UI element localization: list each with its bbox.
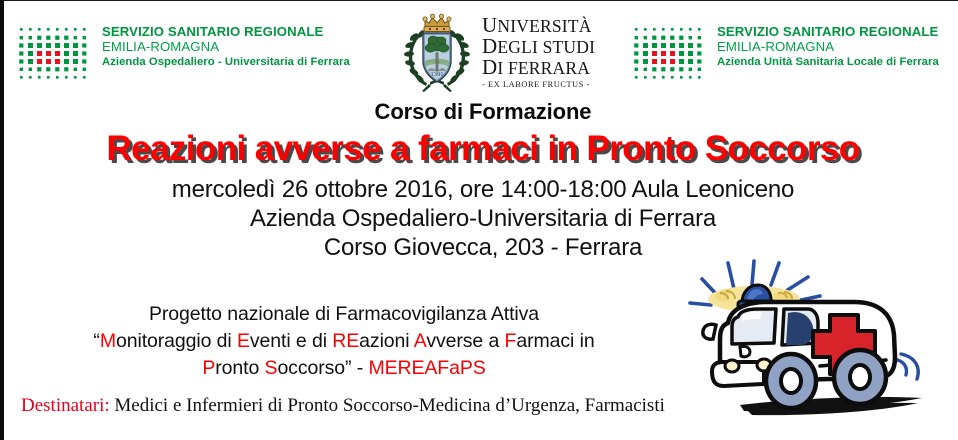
university-line2: Degli Studi: [482, 36, 595, 57]
front-wheel: [766, 354, 816, 408]
acronym-letter: M: [100, 330, 116, 352]
course-kicker: Corso di Formazione: [4, 99, 958, 125]
university-line3: di Ferrara: [482, 57, 595, 78]
university-motto: - EX LABORE FRUCTUS -: [482, 81, 595, 89]
rear-wheel: [834, 350, 886, 404]
venue-block: mercoledì 26 ottobre 2016, ore 14:00-18:…: [4, 175, 958, 262]
motion-lines-icon: [894, 354, 918, 379]
project-text-run: vverse a: [426, 330, 504, 352]
project-text-run: occorso” -: [277, 357, 368, 379]
project-text-run: ronto: [215, 357, 264, 379]
project-line2: “Monitoraggio di Eventi e di REazioni Av…: [4, 328, 684, 355]
acronym-letter: E: [237, 330, 250, 352]
logo-left-text: SERVIZIO SANITARIO REGIONALE EMILIA-ROMA…: [102, 25, 350, 68]
university-line1: Università: [482, 15, 595, 36]
project-block: Progetto nazionale di Farmacovigilanza A…: [4, 301, 684, 382]
acronym-letter: MEREAFaPS: [368, 357, 485, 379]
project-text-run: armaci in: [516, 330, 594, 352]
poster-canvas: SERVIZIO SANITARIO REGIONALE EMILIA-ROMA…: [0, 0, 958, 440]
logo-servizio-sanitario-ausl: SERVIZIO SANITARIO REGIONALE EMILIA-ROMA…: [633, 25, 939, 86]
ssr-dot-matrix-logo-icon: [18, 26, 90, 86]
project-text-run: onitoraggio di: [116, 330, 237, 352]
destinatari-line: Destinatari: Medici e Infermieri di Pron…: [21, 395, 665, 417]
headlight-icon: [725, 360, 739, 372]
project-line3: Pronto Soccorso” - MEREAFaPS: [4, 355, 684, 382]
unife-crest-icon: 1391: [400, 9, 474, 95]
acronym-letter: P: [202, 357, 215, 379]
venue-line-date: mercoledì 26 ottobre 2016, ore 14:00-18:…: [4, 175, 958, 204]
logo-left-line3: Azienda Ospedaliero - Universitaria di F…: [102, 56, 350, 69]
logo-right-line3: Azienda Unità Sanitaria Locale di Ferrar…: [717, 56, 939, 69]
logo-right-text: SERVIZIO SANITARIO REGIONALE EMILIA-ROMA…: [717, 25, 939, 68]
acronym-letter: F: [505, 330, 517, 352]
header-logos-row: SERVIZIO SANITARIO REGIONALE EMILIA-ROMA…: [4, 1, 958, 97]
destinatari-text: Medici e Infermieri di Pronto Soccorso-M…: [110, 395, 665, 416]
crest-year: 1391: [431, 71, 444, 78]
logo-right-line1: SERVIZIO SANITARIO REGIONALE: [717, 25, 939, 40]
venue-line-organization: Azienda Ospedaliero-Universitaria di Fer…: [4, 204, 958, 233]
logo-right-line2: EMILIA-ROMAGNA: [717, 40, 939, 55]
ambulance-illustration: [668, 253, 958, 440]
university-text: Università Degli Studi di Ferrara - EX L…: [482, 15, 595, 89]
project-line1: Progetto nazionale di Farmacovigilanza A…: [4, 301, 684, 328]
logo-left-line1: SERVIZIO SANITARIO REGIONALE: [102, 25, 350, 40]
destinatari-label: Destinatari:: [21, 395, 110, 416]
project-text-run: venti e di: [250, 330, 332, 352]
ssr-dot-matrix-logo-icon: [633, 26, 705, 86]
logo-servizio-sanitario-aou: SERVIZIO SANITARIO REGIONALE EMILIA-ROMA…: [18, 25, 350, 86]
acronym-letter: RE: [332, 330, 359, 352]
logo-left-line2: EMILIA-ROMAGNA: [102, 40, 350, 55]
acronym-letter: A: [414, 330, 427, 352]
side-mirror-icon: [703, 324, 716, 339]
page-title: Reazioni avverse a farmaci in Pronto Soc…: [4, 129, 958, 169]
project-text-run: azioni: [359, 330, 414, 352]
university-logo: 1391 Università Degli Studi di Ferrara -…: [400, 9, 595, 95]
acronym-letter: S: [265, 357, 278, 379]
